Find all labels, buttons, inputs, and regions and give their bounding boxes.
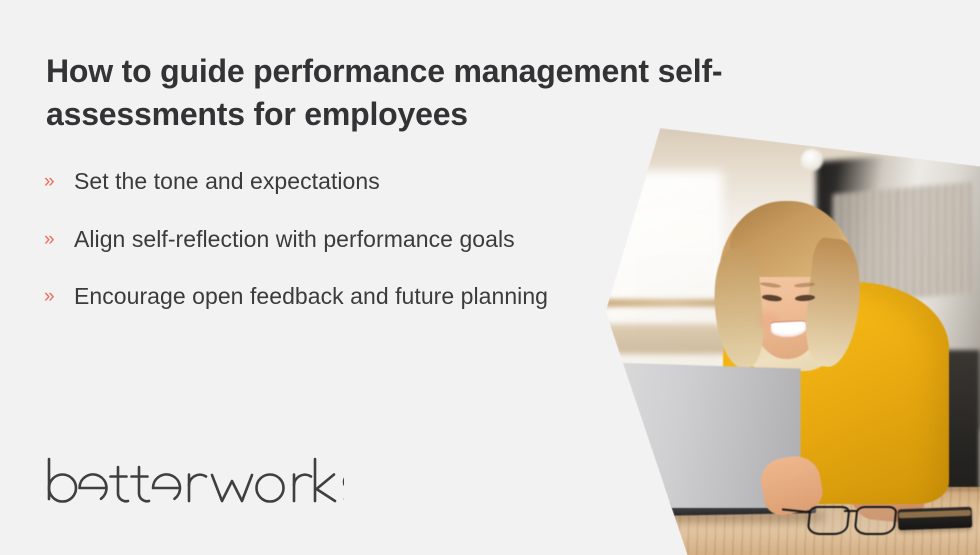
slide-canvas: How to guide performance management self… [0,0,980,555]
list-item-label: Set the tone and expectations [74,165,564,199]
hero-photo-panel [590,128,980,555]
list-item-label: Encourage open feedback and future plann… [74,280,564,314]
list-item: » Set the tone and expectations [44,165,564,199]
betterworks-logo [44,455,344,511]
hero-photo [590,128,980,555]
photo-phone [898,507,973,531]
betterworks-wordmark-icon [44,455,344,511]
list-item-label: Align self-reflection with performance g… [74,223,564,257]
page-title: How to guide performance management self… [46,50,746,136]
photo-background-lamp [801,149,823,171]
photo-eyeglasses [808,504,909,534]
key-points-list: » Set the tone and expectations » Align … [44,165,564,314]
double-chevron-icon: » [44,280,74,311]
photo-phone-trim [899,510,970,519]
list-item: » Align self-reflection with performance… [44,223,564,257]
list-item: » Encourage open feedback and future pla… [44,280,564,314]
double-chevron-icon: » [44,165,74,196]
photo-eyeglasses-lens-right [853,506,897,535]
double-chevron-icon: » [44,223,74,254]
